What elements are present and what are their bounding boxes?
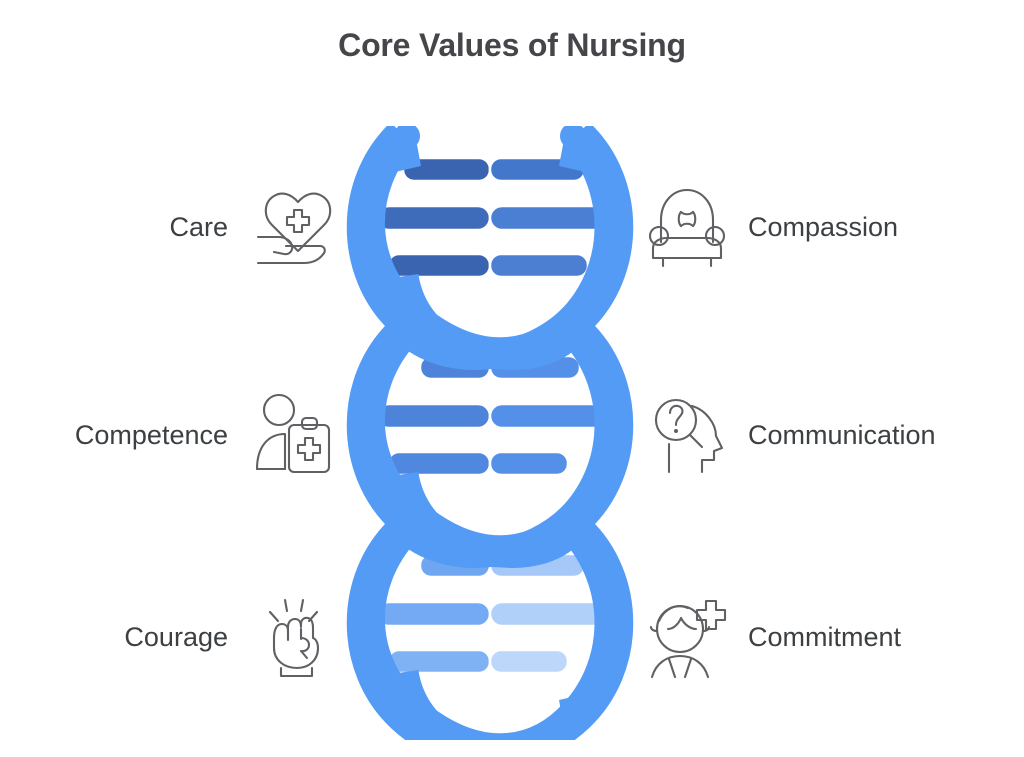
dna-double-helix-graphic (335, 126, 645, 740)
helix-rung-group-bottom (377, 554, 608, 673)
helix-rung (388, 254, 588, 277)
value-item-competence[interactable]: Competence (75, 387, 332, 483)
value-item-commitment[interactable]: Commitment (648, 589, 901, 685)
helix-rung (388, 452, 568, 475)
page-title: Core Values of Nursing (0, 27, 1024, 64)
value-label-compassion: Compassion (748, 214, 898, 241)
value-item-compassion[interactable]: Compassion (648, 179, 898, 275)
helix-rung-group-middle (377, 356, 608, 475)
helix-rung (377, 404, 608, 428)
armchair-icon (648, 182, 726, 272)
value-label-commitment: Commitment (748, 624, 901, 651)
nurse-clipboard-icon (254, 390, 332, 480)
value-label-competence: Competence (75, 422, 228, 449)
helix-rung-group-top (377, 158, 608, 277)
value-item-care[interactable]: Care (169, 179, 332, 275)
value-label-care: Care (169, 214, 228, 241)
raised-fist-icon (254, 592, 332, 682)
helix-rung (377, 206, 608, 230)
value-item-courage[interactable]: Courage (124, 589, 332, 685)
value-label-communication: Communication (748, 422, 936, 449)
head-question-magnifier-icon (648, 390, 726, 480)
heart-in-hand-icon (254, 182, 332, 272)
value-item-communication[interactable]: Communication (648, 387, 936, 483)
value-label-courage: Courage (124, 624, 228, 651)
helix-rung (377, 602, 608, 626)
helix-rung (403, 158, 585, 181)
nurse-face-cross-icon (648, 592, 726, 682)
helix-rung (388, 650, 568, 673)
